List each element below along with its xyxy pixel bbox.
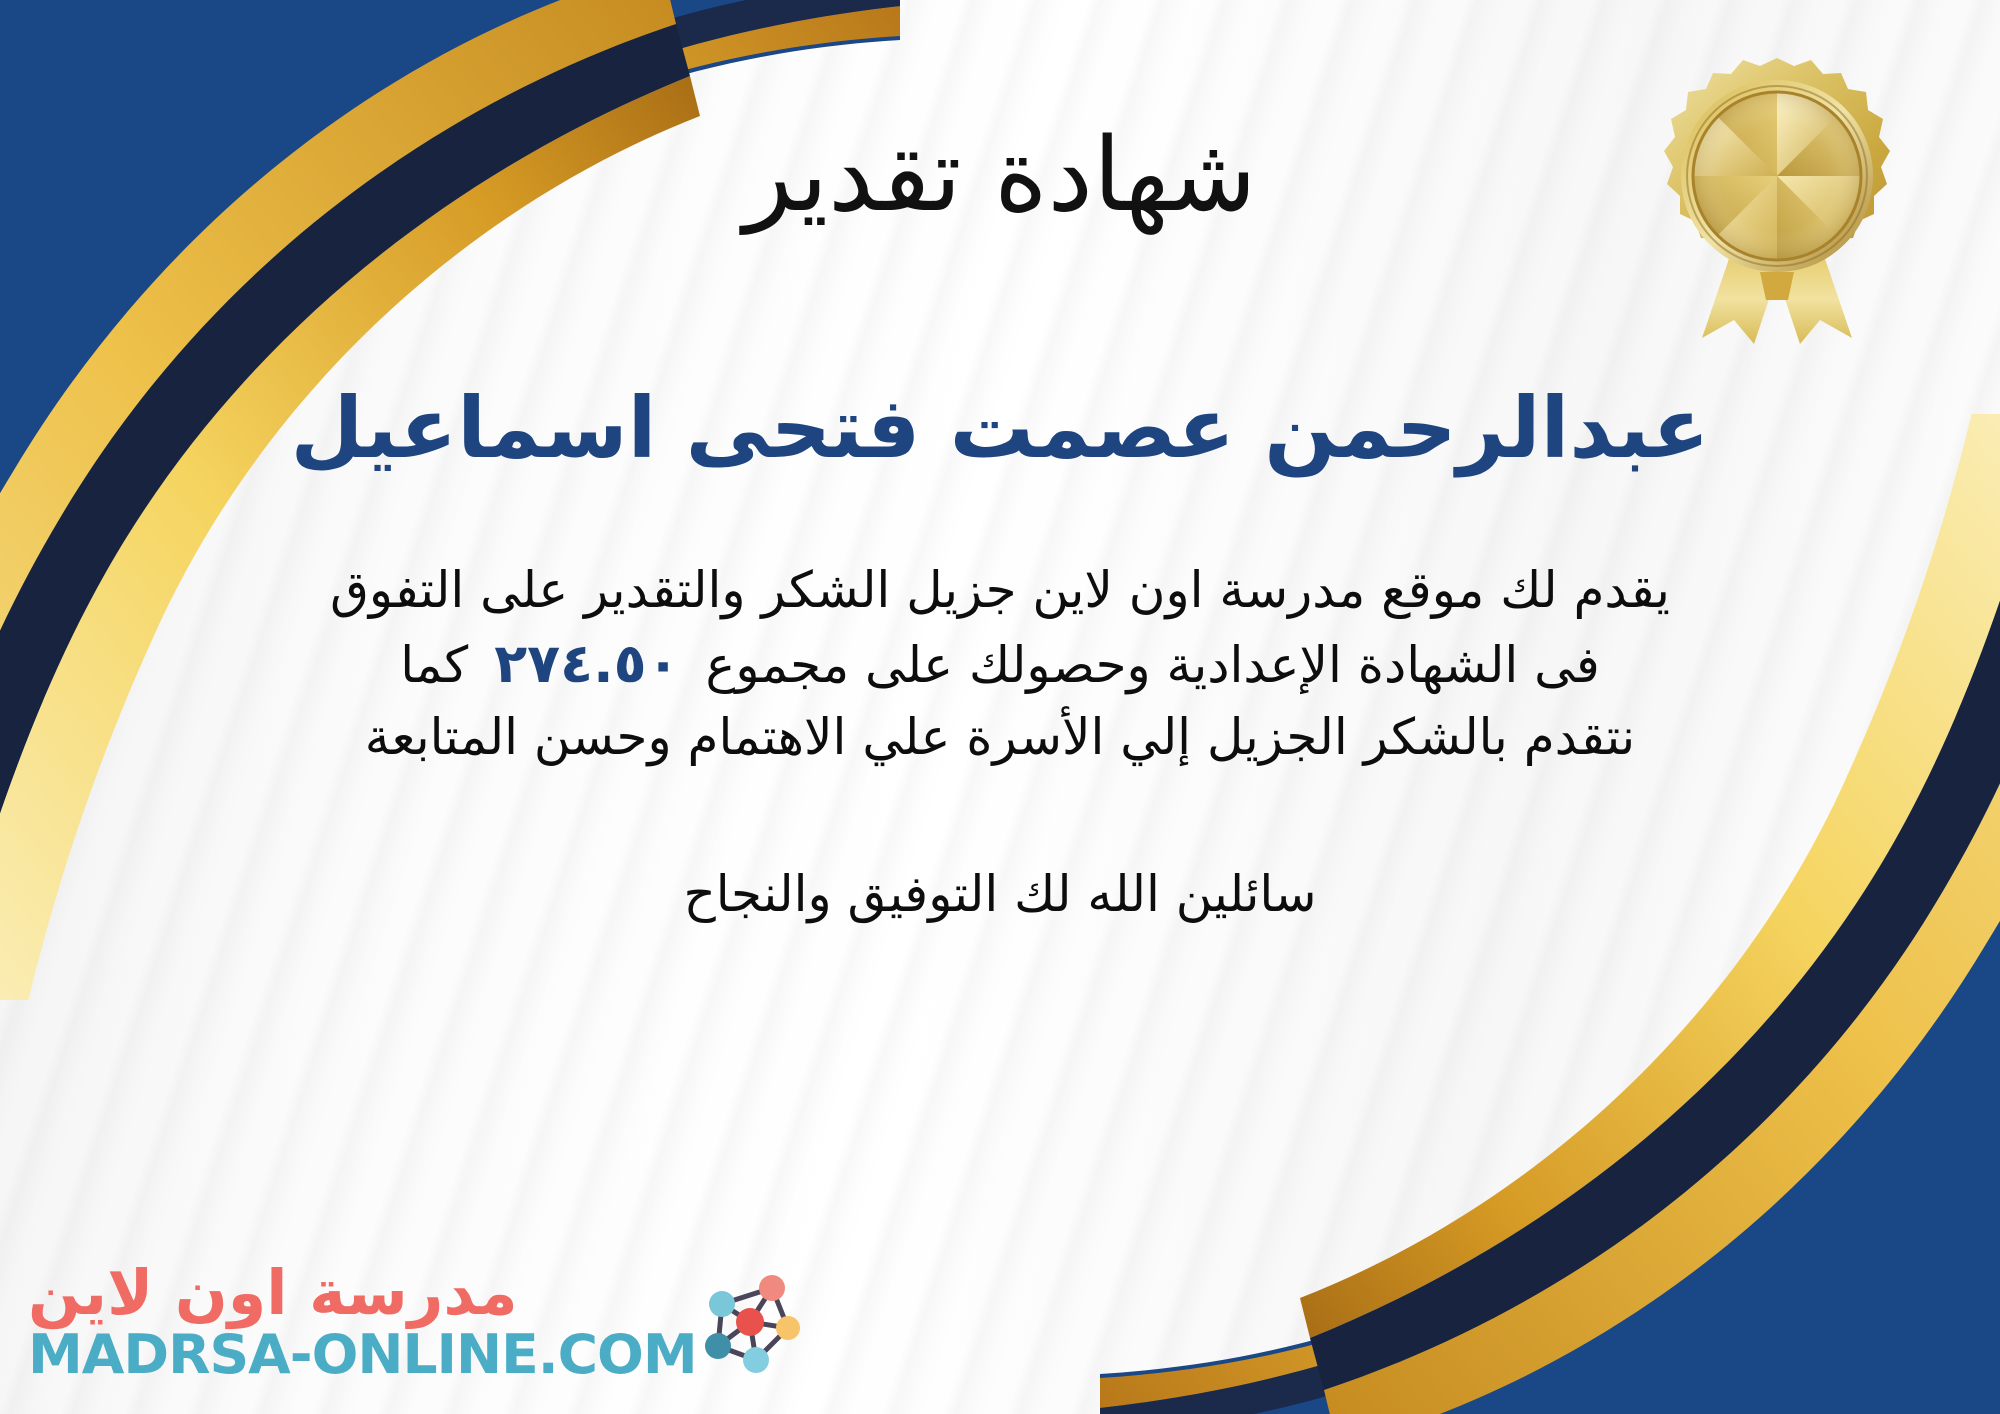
brand-name-arabic: مدرسة اون لاين (28, 1262, 518, 1324)
recipient-name: عبدالرحمن عصمت فتحى اسماعيل (170, 380, 1829, 477)
body-line-1: يقدم لك موقع مدرسة اون لاين جزيل الشكر و… (100, 555, 1900, 626)
certificate-content: شهادة تقدير عبدالرحمن عصمت فتحى اسماعيل … (0, 0, 2000, 1414)
closing-wish-line: سائلين الله لك التوفيق والنجاح (683, 859, 1316, 929)
certificate-body: يقدم لك موقع مدرسة اون لاين جزيل الشكر و… (100, 555, 1900, 774)
brand-domain: MADRSA-ONLINE.COM (28, 1328, 697, 1382)
page-title: شهادة تقدير (743, 120, 1256, 232)
network-graph-icon (694, 1266, 806, 1378)
body-line-2-suffix: كما (400, 630, 468, 701)
body-line-2-prefix: فى الشهادة الإعدادية وحصولك على مجموع (706, 630, 1600, 701)
body-line-3: نتقدم بالشكر الجزيل إلي الأسرة علي الاهت… (100, 702, 1900, 773)
body-line-2: فى الشهادة الإعدادية وحصولك على مجموع ٢٧… (100, 626, 1900, 703)
brand-text: مدرسة اون لاين MADRSA-ONLINE.COM (28, 1262, 684, 1382)
brand-logo[interactable]: مدرسة اون لاين MADRSA-ONLINE.COM (28, 1262, 806, 1382)
certificate-page: شهادة تقدير عبدالرحمن عصمت فتحى اسماعيل … (0, 0, 2000, 1414)
total-score-value: ٢٧٤.٥٠ (494, 626, 679, 703)
